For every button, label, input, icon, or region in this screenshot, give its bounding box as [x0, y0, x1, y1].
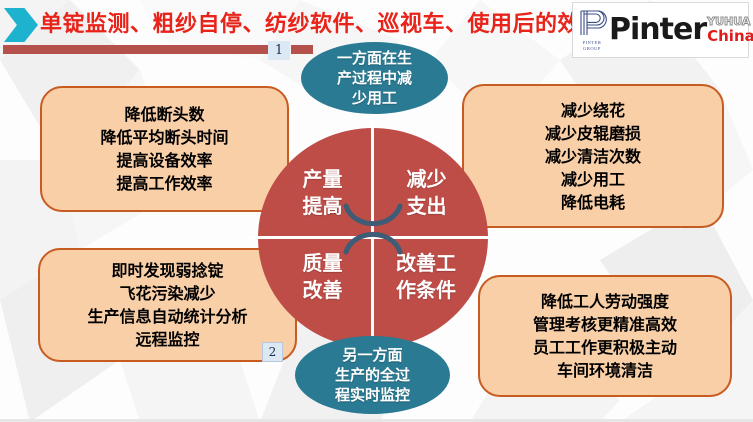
- callout-line: 减少清洁次数: [545, 145, 641, 168]
- callout-line: 车间环境清洁: [557, 359, 653, 382]
- page-title: 单锭监测、粗纱自停、纺纱软件、巡视车、使用后的效果: [40, 8, 570, 40]
- callout-line: 降低断头数: [124, 103, 204, 126]
- callout-line: 即时发现弱捻锭: [111, 259, 223, 282]
- ellipse-line: 少用工: [352, 88, 397, 108]
- callout-line: 管理考核更精准高效: [533, 313, 677, 336]
- title-underline-bar: [3, 45, 268, 54]
- ellipse-callout-top: 一方面在生 产过程中减 少用工: [301, 42, 448, 114]
- logo-group-caption: PINTERGROUP: [583, 40, 602, 52]
- title-underline-bar-segment: [291, 45, 313, 54]
- callout-line: 降低工人劳动强度: [541, 290, 669, 313]
- callout-line: 减少用工: [561, 168, 625, 191]
- ellipse-callout-bottom: 另一方面 生产的全过 程实时监控: [295, 336, 450, 414]
- callout-line: 降低电耗: [561, 191, 625, 214]
- pinter-p-monogram-icon: PINTERGROUP: [577, 6, 607, 54]
- callout-line: 员工工作更积极主动: [533, 336, 677, 359]
- callout-line: 飞花污染减少: [119, 282, 215, 305]
- slide-canvas: 单锭监测、粗纱自停、纺纱软件、巡视车、使用后的效果 1 PINTE: [0, 0, 753, 422]
- callout-line: 减少绕花: [561, 99, 625, 122]
- ellipse-line: 另一方面: [342, 345, 402, 365]
- ellipse-line: 生产的全过: [335, 365, 410, 385]
- callout-box-bottom-right: 降低工人劳动强度 管理考核更精准高效 员工工作更积极主动 车间环境清洁: [478, 275, 732, 397]
- ellipse-line: 产过程中减: [337, 68, 412, 88]
- callout-line: 减少皮辊磨损: [545, 122, 641, 145]
- slide-marker-1: 1: [268, 41, 290, 60]
- callout-line: 提高设备效率: [116, 149, 212, 172]
- logo-china-text: China: [707, 28, 753, 44]
- callout-line: 提高工作效率: [116, 172, 212, 195]
- slide-marker-2: 2: [262, 342, 283, 362]
- callout-line: 远程监控: [135, 328, 199, 351]
- callout-box-top-right: 减少绕花 减少皮辊磨损 减少清洁次数 减少用工 降低电耗: [462, 84, 724, 228]
- ellipse-line: 一方面在生: [337, 48, 412, 68]
- callout-box-top-left: 降低断头数 降低平均断头时间 提高设备效率 提高工作效率: [40, 86, 289, 212]
- logo-brand-text: Pinter: [609, 15, 706, 45]
- logo-wordmark: Pinter YUHUA China: [607, 15, 753, 45]
- center-arc-ornament-icon: [338, 198, 408, 260]
- callout-line: 生产信息自动统计分析: [87, 305, 247, 328]
- ellipse-line: 程实时监控: [335, 385, 410, 405]
- callout-line: 降低平均断头时间: [100, 126, 228, 149]
- company-logo: PINTERGROUP Pinter YUHUA China: [572, 2, 749, 58]
